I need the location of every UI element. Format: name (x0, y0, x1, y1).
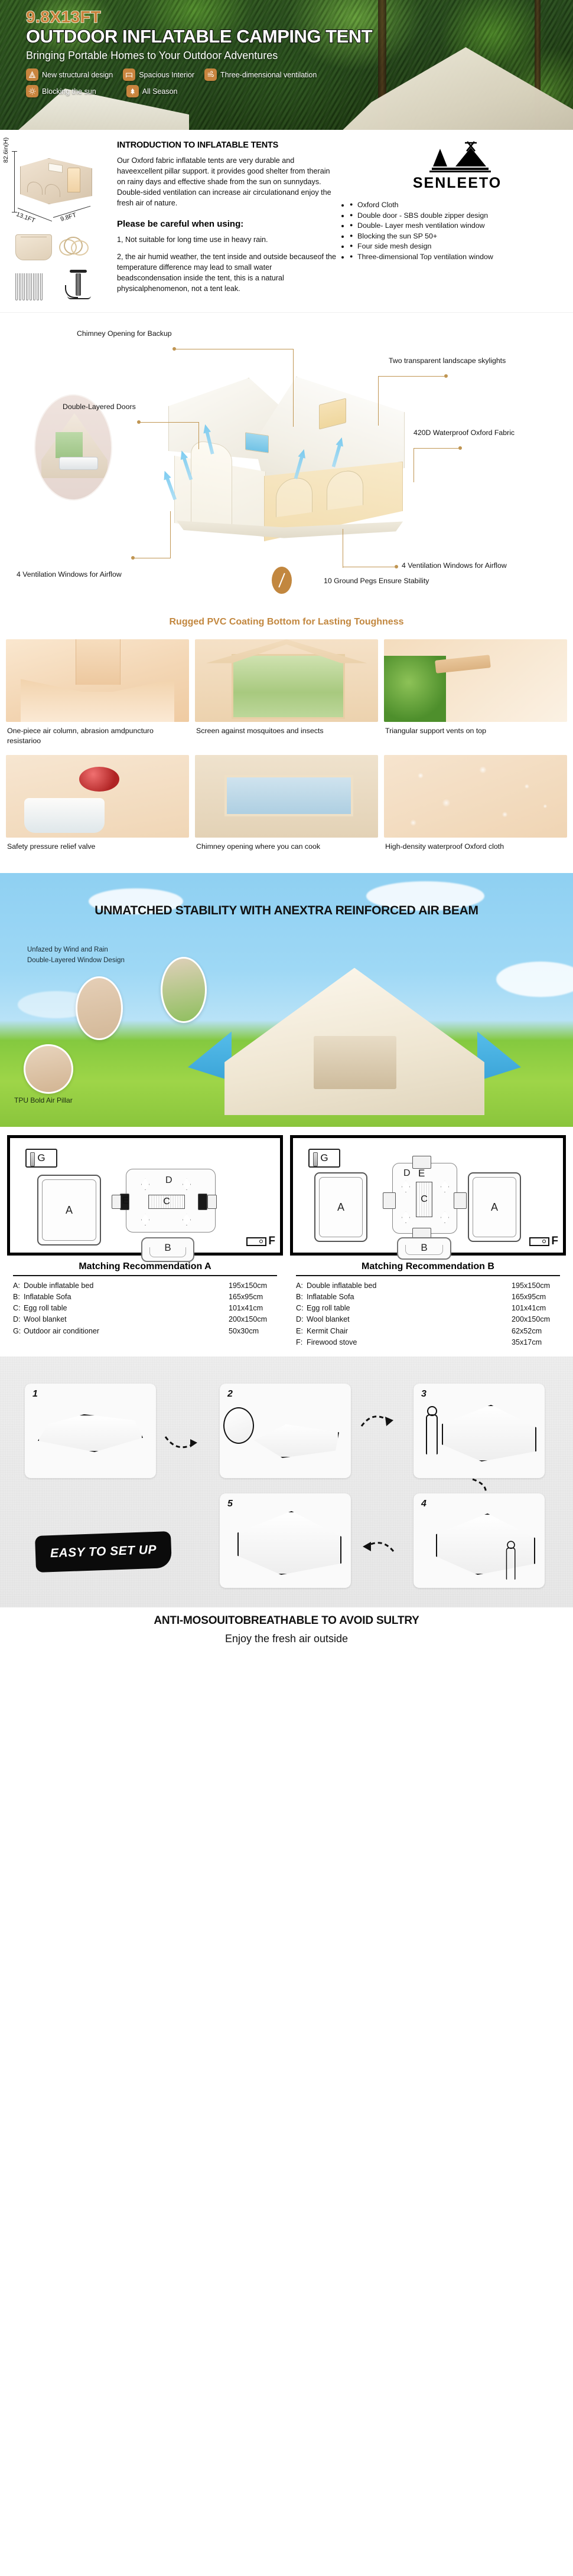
legend-key: D: (296, 1314, 307, 1325)
plan-divider (296, 1275, 560, 1276)
callout-leader-line (343, 567, 395, 567)
step-number: 4 (421, 1499, 427, 1509)
legend-row: B:Inflatable Sofa165x95cm (13, 1292, 279, 1303)
spec-item: Double door - SBS double zipper design (350, 211, 567, 221)
legend-size: 165x95cm (512, 1292, 562, 1303)
matching-recommendation-b: G A A D C E B F (290, 1135, 566, 1350)
step-number: 2 (227, 1389, 233, 1400)
legend-row: D:Wool blanket200x150cm (296, 1314, 562, 1325)
legend-size: 101x41cm (229, 1303, 279, 1314)
stability-section: UNMATCHED STABILITY WITH ANEXTRA REINFOR… (0, 873, 573, 1127)
introduction-heading: INTRODUCTION TO INFLATABLE TENTS (117, 140, 338, 150)
feature-grid-caption: Screen against mosquitoes and insects (195, 722, 378, 748)
easy-to-set-up-badge: EASY TO SET UP (35, 1531, 172, 1573)
legend-name: Double inflatable bed (307, 1280, 512, 1292)
floorplan-chair-top (412, 1156, 431, 1169)
person-sketch (504, 1541, 516, 1580)
air-pillar-inset-photo (24, 1044, 73, 1094)
spec-item: Double- Layer mesh ventilation window (350, 221, 567, 231)
callout-label-vent-right: 4 Ventilation Windows for Airflow (402, 561, 507, 570)
hero-feature-label: Spacious Interior (139, 71, 194, 79)
floorplan-label-d: D (403, 1168, 411, 1179)
tent-complete-sketch (237, 1511, 341, 1575)
floorplan-label-f: F (268, 1235, 275, 1248)
legend-row: B:Inflatable Sofa165x95cm (296, 1292, 562, 1303)
floorplan-item-f: F (246, 1235, 275, 1248)
ground-pegs-icon (15, 273, 56, 303)
tpu-pillar-label: TPU Bold Air Pillar (14, 1096, 73, 1104)
spec-item: Oxford Cloth (350, 200, 567, 210)
step-number: 5 (227, 1499, 233, 1509)
legend-row: A:Double inflatable bed195x150cm (296, 1280, 562, 1292)
step-number: 3 (421, 1389, 427, 1400)
airflow-icon (204, 68, 217, 81)
setup-steps-section: 1 2 3 4 5 (0, 1356, 573, 1607)
floorplan-chair-right-seat (207, 1195, 217, 1209)
hero-feature-three-dimensional-ventilation: Three-dimensional ventilation (204, 68, 317, 81)
caution-item-2: 2, the air humid weather, the tent insid… (117, 251, 338, 294)
feature-grid-caption: One-piece air column, abrasion amdpunctu… (6, 722, 189, 751)
interior-window-view (56, 432, 83, 458)
floorplan-item-c: C (416, 1182, 432, 1217)
legend-row: C:Egg roll table101x41cm (296, 1303, 562, 1314)
ground-peg-badge-icon (272, 567, 292, 594)
hero-feature-label: All Season (142, 87, 178, 96)
legend-size: 195x150cm (512, 1280, 562, 1292)
accessories-illustration (13, 234, 108, 305)
legend-key: B: (13, 1292, 24, 1303)
legend-name: Inflatable Sofa (307, 1292, 512, 1303)
step-arrow-1-to-2 (164, 1432, 201, 1456)
callout-leader-line (378, 376, 379, 426)
product-listing-page: 9.8X13FT OUTDOOR INFLATABLE CAMPING TENT… (0, 0, 573, 1660)
legend-size: 62x52cm (512, 1326, 562, 1337)
matching-recommendations-section: G A D C E B F (0, 1127, 573, 1356)
firewood-stove-icon (246, 1237, 266, 1246)
legend-key: B: (296, 1292, 307, 1303)
introduction-text-panel: INTRODUCTION TO INFLATABLE TENTS Our Oxf… (113, 138, 344, 300)
plan-divider (13, 1275, 277, 1276)
person-sketch (423, 1406, 438, 1456)
footer-section: ANTI-MOSOUITOBREATHABLE TO AVOID SULTRY … (0, 1607, 573, 1660)
feature-grid-item: Screen against mosquitoes and insects (195, 639, 378, 751)
legend-name: Egg roll table (307, 1303, 512, 1314)
callout-label-vent-left: 4 Ventilation Windows for Airflow (17, 570, 122, 578)
brand-name: SENLEETO (413, 175, 502, 192)
feature-grid-item: One-piece air column, abrasion amdpunctu… (6, 639, 189, 751)
chimney-opening-photo (195, 755, 378, 838)
hero-size-label: 9.8X13FT (26, 8, 573, 25)
legend-key: D: (13, 1314, 24, 1325)
tent-partially-inflated-sketch (250, 1421, 339, 1458)
firewood-stove-icon (529, 1237, 549, 1246)
callout-label-doors: Double-Layered Doors (63, 403, 136, 411)
step-number: 1 (32, 1389, 38, 1400)
brand-and-specs-panel: SENLEETO Oxford Cloth Double door - SBS … (344, 138, 567, 262)
floorplan-item-a: A (37, 1175, 101, 1245)
floorplan-chair-right (454, 1192, 467, 1209)
triangular-vent-photo (384, 639, 567, 722)
callout-leader-line (414, 448, 461, 449)
legend-size: 101x41cm (512, 1303, 562, 1314)
hero-subtitle: Bringing Portable Homes to Your Outdoor … (26, 50, 573, 62)
legend-key: A: (296, 1280, 307, 1292)
callout-leader-line (414, 448, 414, 482)
introduction-section: 82.6in(H) 13.1FT 9.8FT INTRODUCTION TO I… (0, 130, 573, 312)
sun-icon (26, 85, 38, 97)
legend-name: Double inflatable bed (24, 1280, 229, 1292)
floorplan-item-g: G (25, 1149, 57, 1168)
furniture-icon (123, 68, 135, 81)
legend-row: G:Outdoor air conditioner50x30cm (13, 1326, 279, 1337)
tent-door-shape (67, 168, 80, 192)
spec-item: Three-dimensional Top ventilation window (350, 252, 567, 262)
legend-key: C: (296, 1303, 307, 1314)
legend-size: 200x150cm (229, 1314, 279, 1325)
depth-dimension-label: 13.1FT (15, 211, 36, 224)
legend-name: Wool blanket (24, 1314, 229, 1325)
legend-row: C:Egg roll table101x41cm (13, 1303, 279, 1314)
tent-hero-photo (224, 967, 484, 1115)
tree-icon (126, 85, 139, 97)
hero-title: OUTDOOR INFLATABLE CAMPING TENT (26, 27, 573, 47)
rope-icon (59, 237, 93, 258)
floorplan-chair-right (198, 1194, 207, 1210)
legend-key: F: (296, 1337, 307, 1348)
floorplan-item-f: F (529, 1235, 558, 1248)
floorplan-item-g: G (308, 1149, 340, 1168)
callout-leader-line (198, 422, 199, 449)
floor-plan-b-diagram: G A A D C E B F (290, 1135, 566, 1256)
floorplan-chair-left (383, 1192, 396, 1209)
feature-grid-item: Safety pressure relief valve (6, 755, 189, 864)
zipper-detail-inset-photo (161, 957, 207, 1023)
plan-b-legend: A:Double inflatable bed195x150cm B:Infla… (290, 1280, 566, 1351)
hero-feature-list: New structural design Spacious Interior … (26, 68, 573, 97)
footer-headline: ANTI-MOSOUITOBREATHABLE TO AVOID SULTRY (6, 1614, 567, 1627)
hero-banner: 9.8X13FT OUTDOOR INFLATABLE CAMPING TENT… (0, 0, 573, 130)
legend-key: A: (13, 1280, 24, 1292)
tent-logo-icon (419, 139, 496, 176)
tent-cutaway-illustration (168, 360, 422, 555)
tent-inflated-sketch (442, 1405, 536, 1462)
legend-name: Firewood stove (307, 1337, 512, 1348)
feature-grid-item: Chimney opening where you can cook (195, 755, 378, 864)
floorplan-chair-left-seat (112, 1195, 121, 1209)
stability-title: UNMATCHED STABILITY WITH ANEXTRA REINFOR… (0, 904, 573, 918)
setup-step-4: 4 (414, 1493, 545, 1588)
callout-dot (395, 565, 398, 568)
setup-step-1: 1 (25, 1384, 156, 1478)
interior-air-bed (59, 457, 98, 470)
specification-list: Oxford Cloth Double door - SBS double zi… (347, 200, 567, 261)
cloud-decoration (496, 962, 573, 997)
tent-dimension-illustration: 82.6in(H) 13.1FT 9.8FT (17, 148, 111, 221)
hero-feature-label: New structural design (42, 71, 113, 79)
floor-plan-a-diagram: G A D C E B F (7, 1135, 283, 1256)
feature-grid-caption: High-density waterproof Oxford cloth (384, 838, 567, 864)
hero-feature-label: Blocking the sun (42, 87, 96, 96)
legend-row: F:Firewood stove35x17cm (296, 1337, 562, 1348)
callout-leader-line (175, 349, 293, 349)
callout-leader-line (343, 529, 343, 568)
waterproof-cloth-photo (384, 755, 567, 838)
tent-flat-sketch (38, 1414, 143, 1452)
feature-grid-item: High-density waterproof Oxford cloth (384, 755, 567, 864)
feature-grid-caption: Chimney opening where you can cook (195, 838, 378, 864)
step-arrow-4-to-5 (359, 1534, 396, 1557)
seam-detail-inset-photo (76, 976, 123, 1040)
spec-item: Blocking the sun SP 50+ (350, 231, 567, 241)
air-column-photo (6, 639, 189, 722)
stability-note-line-2: Double-Layered Window Design (27, 956, 125, 966)
hero-feature-blocking-the-sun: Blocking the sun (26, 85, 96, 97)
floorplan-item-a-left: A (314, 1172, 367, 1242)
floorplan-label-e: E (418, 1168, 425, 1179)
legend-size: 35x17cm (512, 1337, 562, 1348)
brand-logo: SENLEETO (347, 139, 567, 192)
mosquito-screen-photo (195, 639, 378, 722)
footer-subline: Enjoy the fresh air outside (6, 1633, 567, 1645)
callout-label-skylights: Two transparent landscape skylights (389, 357, 506, 365)
tent-interior-furniture (314, 1036, 396, 1089)
legend-name: Wool blanket (307, 1314, 512, 1325)
floorplan-item-b: B (397, 1237, 451, 1260)
callout-leader-line (378, 376, 447, 377)
callout-label-pegs: 10 Ground Pegs Ensure Stability (324, 577, 429, 585)
spec-item: Four side mesh design (350, 241, 567, 251)
legend-row: A:Double inflatable bed195x150cm (13, 1280, 279, 1292)
legend-key: G: (13, 1326, 24, 1337)
feature-grid-item: Triangular support vents on top (384, 639, 567, 751)
easy-to-set-up-label: EASY TO SET UP (50, 1543, 157, 1561)
feature-callout-diagram: Chimney Opening for Backup Two transpare… (0, 312, 573, 631)
hero-feature-new-structural-design: New structural design (26, 68, 113, 81)
plan-a-title: Matching Recommendation A (7, 1261, 283, 1272)
legend-row: D:Wool blanket200x150cm (13, 1314, 279, 1325)
stability-note: Unfazed by Wind and Rain Double-Layered … (27, 945, 125, 966)
callout-leader-line (170, 511, 171, 558)
hero-feature-label: Three-dimensional ventilation (220, 71, 317, 79)
floorplan-item-c: C (148, 1195, 185, 1209)
floorplan-label-d: D (165, 1175, 172, 1186)
legend-size: 200x150cm (512, 1314, 562, 1325)
feature-grid-caption: Safety pressure relief valve (6, 838, 189, 864)
step-arrow-2-to-3 (360, 1411, 397, 1434)
callout-label-fabric: 420D Waterproof Oxford Fabric (414, 429, 515, 437)
legend-key: C: (13, 1303, 24, 1314)
legend-size: 195x150cm (229, 1280, 279, 1292)
introduction-body: Our Oxford fabric inflatable tents are v… (117, 155, 338, 208)
feature-photo-grid: One-piece air column, abrasion amdpunctu… (0, 631, 573, 873)
legend-key: E: (296, 1326, 307, 1337)
callout-leader-line (134, 558, 170, 558)
stability-note-line-1: Unfazed by Wind and Rain (27, 945, 125, 956)
floorplan-item-b: B (141, 1237, 194, 1262)
height-dimension-label: 82.6in(H) (2, 138, 9, 163)
chimney-opening-window (245, 432, 269, 453)
pump-inset-sketch (223, 1407, 254, 1444)
pressure-valve-photo (6, 755, 189, 838)
legend-size: 50x30cm (229, 1326, 279, 1337)
hero-feature-all-season: All Season (126, 85, 178, 97)
pvc-coating-banner: Rugged PVC Coating Bottom for Lasting To… (0, 617, 573, 627)
width-dimension-label: 9.8FT (60, 211, 77, 223)
tent-icon (26, 68, 38, 81)
caution-item-1: 1, Not suitable for long time use in hea… (117, 234, 338, 245)
legend-size: 165x95cm (229, 1292, 279, 1303)
legend-name: Kermit Chair (307, 1326, 512, 1337)
floorplan-label-e: E (122, 1195, 129, 1207)
height-dimension-line (14, 151, 15, 213)
callout-leader-line (139, 422, 198, 423)
plan-a-legend: A:Double inflatable bed195x150cm B:Infla… (7, 1280, 283, 1339)
legend-name: Egg roll table (24, 1303, 229, 1314)
product-dimensions-panel: 82.6in(H) 13.1FT 9.8FT (6, 138, 113, 305)
legend-name: Inflatable Sofa (24, 1292, 229, 1303)
feature-grid-caption: Triangular support vents on top (384, 722, 567, 748)
carry-bag-icon (15, 234, 52, 260)
caution-heading: Please be careful when using: (117, 219, 338, 229)
air-pump-icon (64, 267, 95, 304)
hero-feature-spacious-interior: Spacious Interior (123, 68, 194, 81)
setup-step-3: 3 (414, 1384, 545, 1478)
tent-standing-sketch (436, 1513, 535, 1575)
floorplan-item-a-right: A (468, 1172, 521, 1242)
matching-recommendation-a: G A D C E B F (7, 1135, 283, 1350)
legend-row: E:Kermit Chair62x52cm (296, 1326, 562, 1337)
setup-step-2: 2 (220, 1384, 351, 1478)
floorplan-label-f: F (551, 1235, 558, 1248)
plan-b-title: Matching Recommendation B (290, 1261, 566, 1272)
callout-label-chimney: Chimney Opening for Backup (77, 329, 172, 338)
setup-step-5: 5 (220, 1493, 351, 1588)
legend-name: Outdoor air conditioner (24, 1326, 229, 1337)
callout-leader-line (293, 349, 294, 427)
